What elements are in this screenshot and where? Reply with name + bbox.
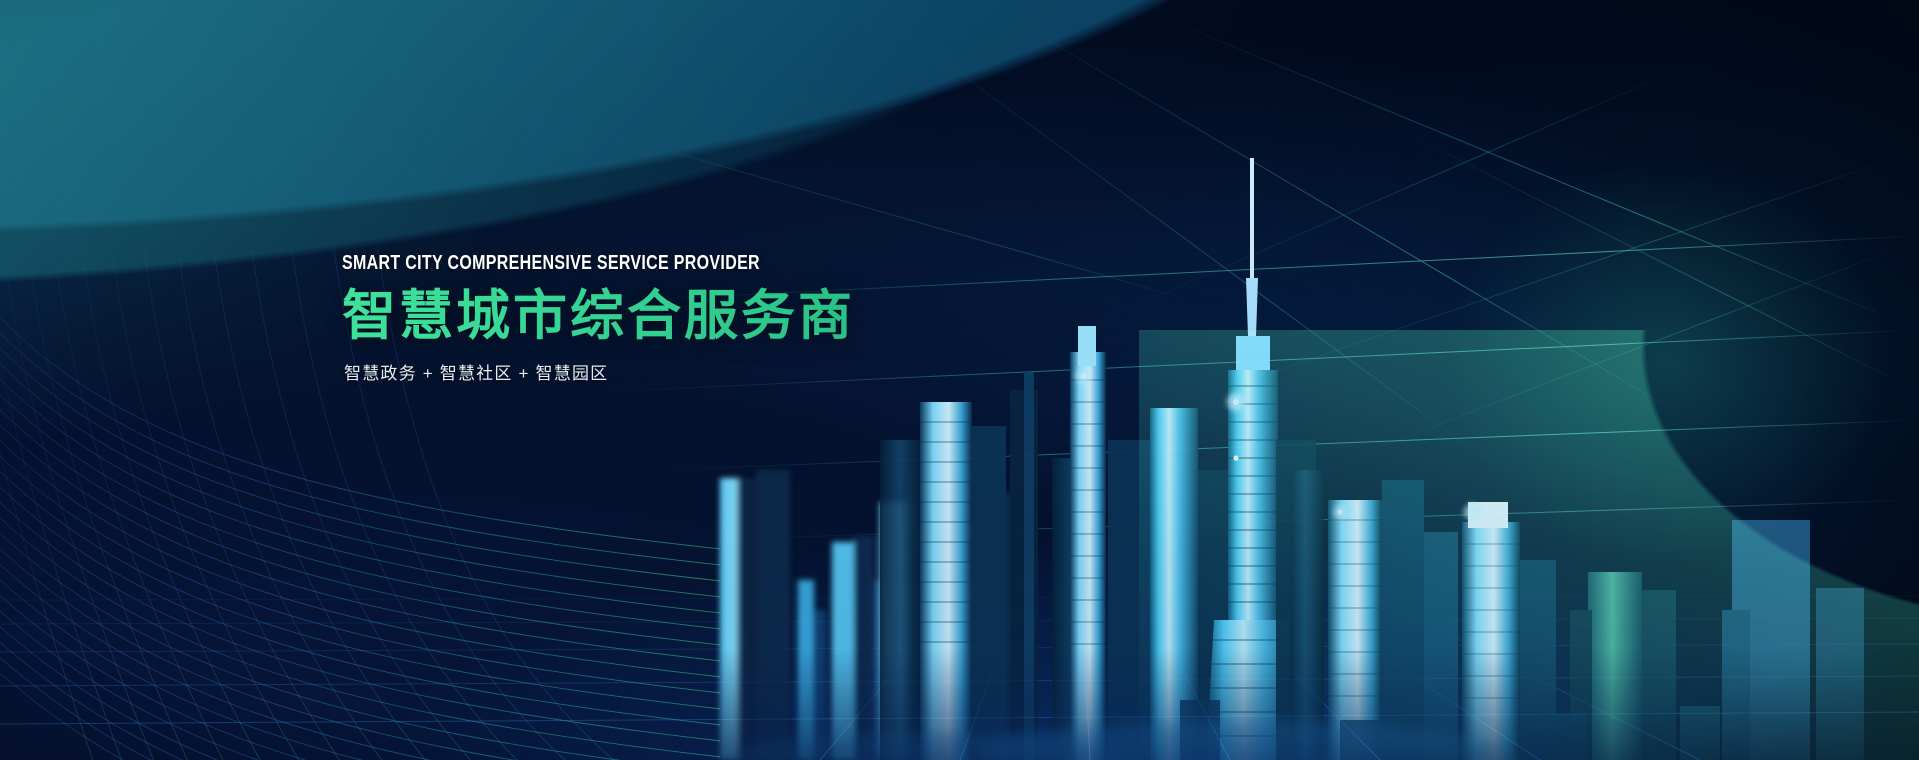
- bottom-right-green-curve: [1139, 330, 1919, 760]
- hero-eyebrow: SMART CITY COMPREHENSIVE SERVICE PROVIDE…: [342, 252, 950, 275]
- hero-copy: SMART CITY COMPREHENSIVE SERVICE PROVIDE…: [342, 252, 1102, 384]
- hero-banner: SMART CITY COMPREHENSIVE SERVICE PROVIDE…: [0, 0, 1919, 760]
- hero-subtitle: 智慧政务 + 智慧社区 + 智慧园区: [344, 359, 1102, 384]
- page-title: 智慧城市综合服务商: [342, 287, 1102, 345]
